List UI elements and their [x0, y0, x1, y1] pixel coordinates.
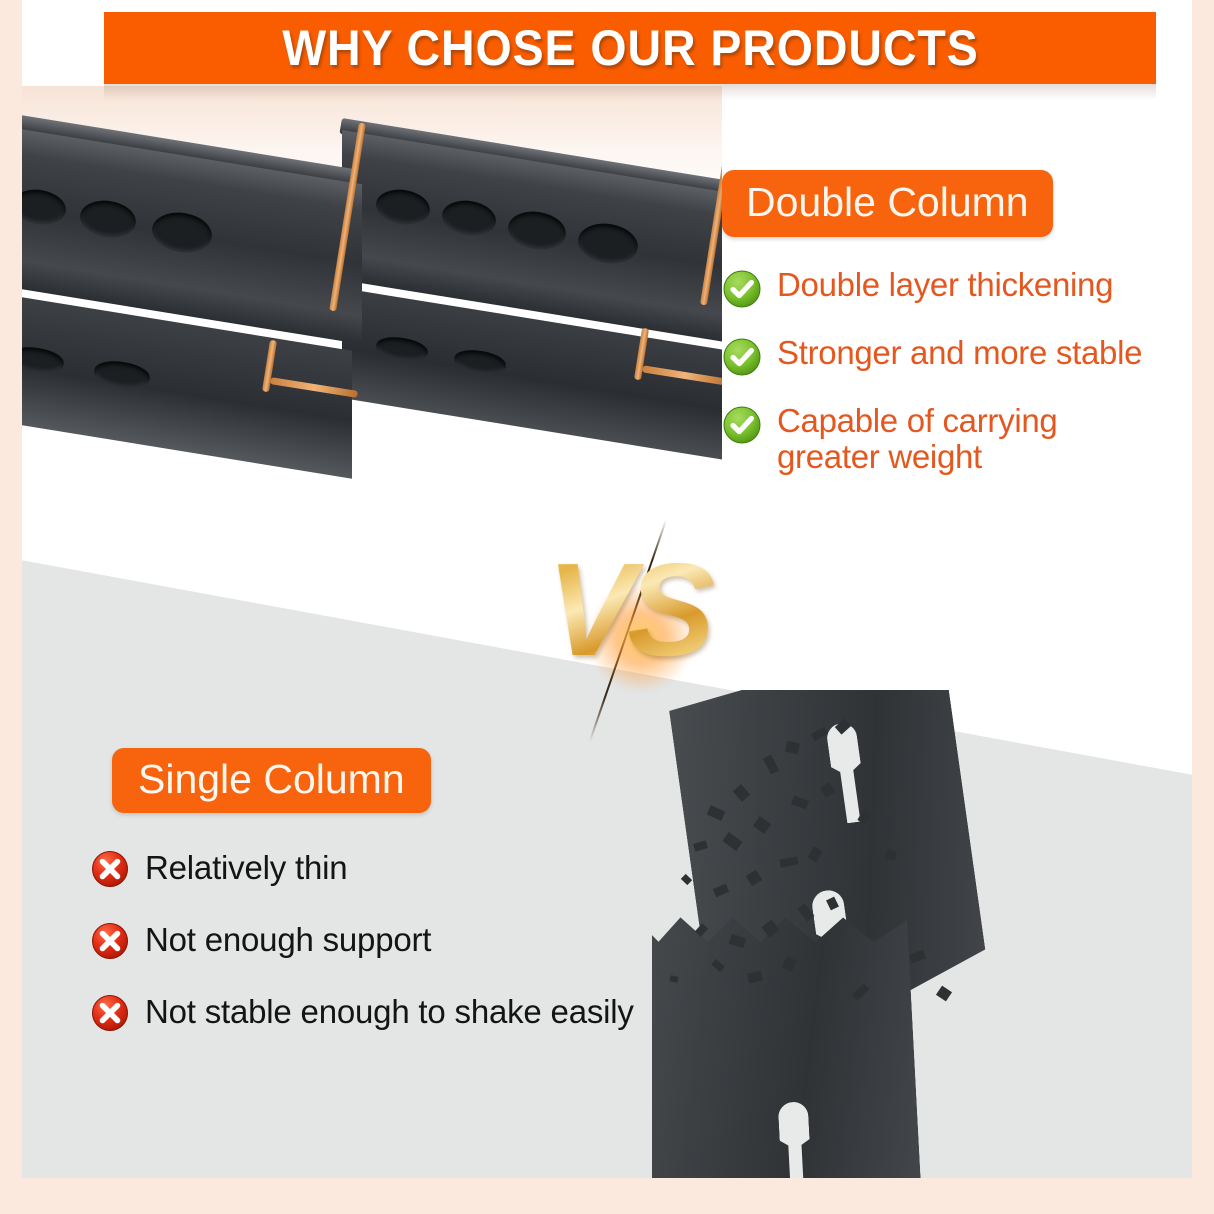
- bullet-label: Capable of carrying greater weight: [777, 403, 1107, 475]
- list-item: Stronger and more stable: [722, 335, 1192, 377]
- cross-circle-icon: [90, 993, 130, 1033]
- list-item: Not enough support: [90, 919, 730, 961]
- versus-label: VS: [522, 535, 732, 685]
- banner-drop-shadow: [104, 84, 1156, 100]
- check-circle-icon: [722, 337, 762, 377]
- bullet-label: Stronger and more stable: [777, 335, 1142, 371]
- versus-badge: VS: [522, 535, 732, 715]
- single-column-broken-post-photo: [652, 690, 1192, 1178]
- double-column-beam-photo: [22, 86, 722, 516]
- product-comparison-infographic: VS WHY CHOSE OUR PRODUCTS Double Column: [0, 0, 1214, 1214]
- double-column-badge-label: Double Column: [746, 179, 1029, 225]
- bullet-label: Not enough support: [145, 921, 431, 959]
- cross-circle-icon: [90, 921, 130, 961]
- single-column-badge: Single Column: [112, 748, 431, 813]
- double-column-bullet-list: Double layer thickening Stronger and mor…: [722, 267, 1192, 475]
- check-circle-icon: [722, 269, 762, 309]
- list-item: Relatively thin: [90, 847, 730, 889]
- single-column-bullet-list: Relatively thin Not enough support: [90, 847, 730, 1033]
- bullet-label: Not stable enough to shake easily: [145, 993, 634, 1031]
- single-column-section: Single Column: [90, 748, 730, 1063]
- double-column-section: Double Column: [722, 170, 1192, 501]
- page-title: WHY CHOSE OUR PRODUCTS: [282, 19, 978, 77]
- double-column-badge: Double Column: [722, 170, 1053, 237]
- title-banner: WHY CHOSE OUR PRODUCTS: [104, 12, 1156, 84]
- list-item: Double layer thickening: [722, 267, 1192, 309]
- bullet-label: Double layer thickening: [777, 267, 1113, 303]
- bullet-label: Relatively thin: [145, 849, 347, 887]
- single-column-badge-label: Single Column: [138, 756, 405, 802]
- check-circle-icon: [722, 405, 762, 445]
- list-item: Capable of carrying greater weight: [722, 403, 1192, 475]
- front-steel-beam: [22, 112, 402, 512]
- inner-content-frame: VS WHY CHOSE OUR PRODUCTS Double Column: [22, 0, 1192, 1178]
- cross-circle-icon: [90, 849, 130, 889]
- list-item: Not stable enough to shake easily: [90, 991, 730, 1033]
